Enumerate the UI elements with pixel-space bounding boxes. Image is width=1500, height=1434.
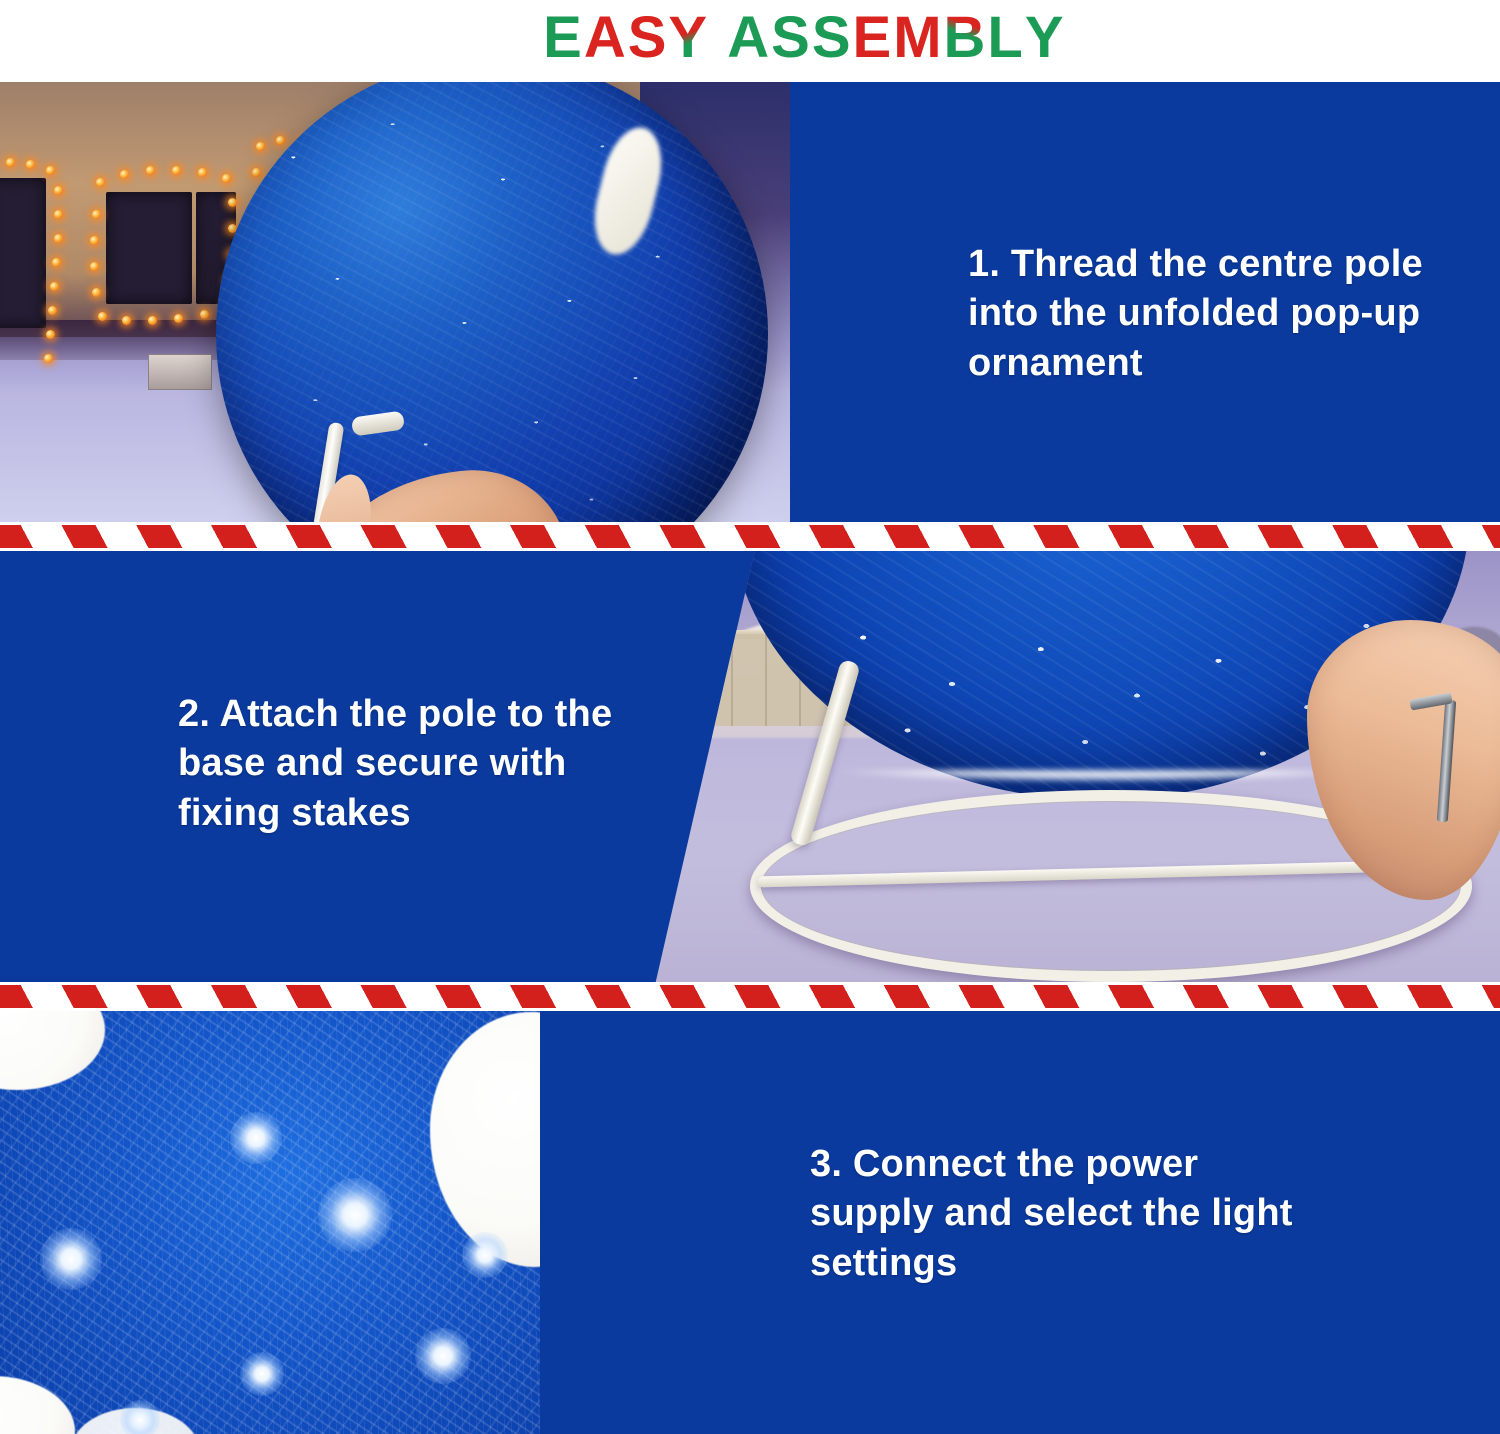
string-light-bulb bbox=[98, 312, 107, 321]
step-1-caption: 1. Thread the centre pole into the unfol… bbox=[968, 240, 1438, 388]
title-letter-l: L bbox=[987, 9, 1024, 67]
stripe-edge-top-2 bbox=[0, 982, 1500, 985]
title-space bbox=[709, 9, 727, 67]
title-letter-a2: A bbox=[727, 9, 771, 67]
string-light-bulb bbox=[48, 306, 57, 315]
header-banner: EASY ASSEMBLY bbox=[0, 0, 1500, 82]
stripe-edge-bottom-1 bbox=[0, 548, 1500, 551]
wall-vent bbox=[148, 354, 212, 390]
title-letter-m: M bbox=[893, 9, 943, 67]
led-light bbox=[230, 1112, 282, 1164]
step-3-band: 3. Connect the power supply and select t… bbox=[0, 1000, 1500, 1434]
house-window bbox=[106, 192, 192, 304]
string-light-bulb bbox=[96, 178, 105, 187]
string-light-bulb bbox=[90, 236, 99, 245]
title-letter-b: B bbox=[944, 9, 988, 67]
led-light bbox=[462, 1232, 508, 1278]
title-letter-a1: A bbox=[584, 9, 628, 67]
string-light-bulb bbox=[90, 262, 99, 271]
step-2-text-pane: 2. Attach the pole to the base and secur… bbox=[0, 550, 760, 985]
string-light-bulb bbox=[172, 166, 181, 175]
string-light-bulb bbox=[92, 210, 101, 219]
string-light-bulb bbox=[120, 170, 129, 179]
stripe-edge-top-1 bbox=[0, 522, 1500, 525]
step-3-text-pane: 3. Connect the power supply and select t… bbox=[540, 1000, 1500, 1434]
string-light-bulb bbox=[122, 316, 131, 325]
string-light-bulb bbox=[54, 186, 63, 195]
string-light-bulb bbox=[174, 314, 183, 323]
step-1-text-pane: 1. Thread the centre pole into the unfol… bbox=[790, 82, 1500, 525]
led-light bbox=[40, 1228, 102, 1290]
title-letter-s2: S bbox=[771, 9, 812, 67]
led-light bbox=[240, 1352, 284, 1396]
string-light-bulb bbox=[54, 210, 63, 219]
led-light bbox=[318, 1178, 392, 1252]
led-light bbox=[120, 1400, 160, 1434]
string-light-bulb bbox=[148, 316, 157, 325]
candy-stripe-divider-1 bbox=[0, 525, 1500, 550]
string-light-bulb bbox=[198, 168, 207, 177]
string-light-bulb bbox=[92, 288, 101, 297]
string-light-bulb bbox=[52, 258, 61, 267]
title-letter-s1: S bbox=[628, 9, 669, 67]
candy-stripe-divider-2 bbox=[0, 985, 1500, 1010]
step-1-band: 1. Thread the centre pole into the unfol… bbox=[0, 82, 1500, 525]
string-light-bulb bbox=[54, 234, 63, 243]
title-letter-y2: Y bbox=[1025, 9, 1066, 67]
house-window bbox=[0, 178, 46, 328]
string-light-bulb bbox=[46, 166, 55, 175]
stripe-edge-bottom-2 bbox=[0, 1008, 1500, 1011]
title-letter-s3: S bbox=[812, 9, 853, 67]
easy-assembly-infographic: EASY ASSEMBLY 1. Thread the centre pole … bbox=[0, 0, 1500, 1434]
step-2-photo bbox=[610, 550, 1500, 985]
title-letter-y1: Y bbox=[668, 9, 709, 67]
step-1-photo bbox=[0, 82, 890, 525]
string-light-bulb bbox=[50, 282, 59, 291]
string-light-bulb bbox=[46, 330, 55, 339]
title-letter-e1: E bbox=[543, 9, 584, 67]
title-letter-e2: E bbox=[853, 9, 894, 67]
string-light-bulb bbox=[146, 166, 155, 175]
blue-glitter-ornament bbox=[216, 82, 768, 525]
string-light-bulb bbox=[26, 160, 35, 169]
step-3-caption: 3. Connect the power supply and select t… bbox=[810, 1140, 1310, 1288]
string-light-bulb bbox=[6, 158, 15, 167]
string-light-bulb bbox=[200, 310, 209, 319]
string-light-bulb bbox=[44, 354, 53, 363]
step-2-caption: 2. Attach the pole to the base and secur… bbox=[178, 690, 648, 838]
led-light bbox=[415, 1328, 471, 1384]
step-2-band: 2. Attach the pole to the base and secur… bbox=[0, 550, 1500, 985]
